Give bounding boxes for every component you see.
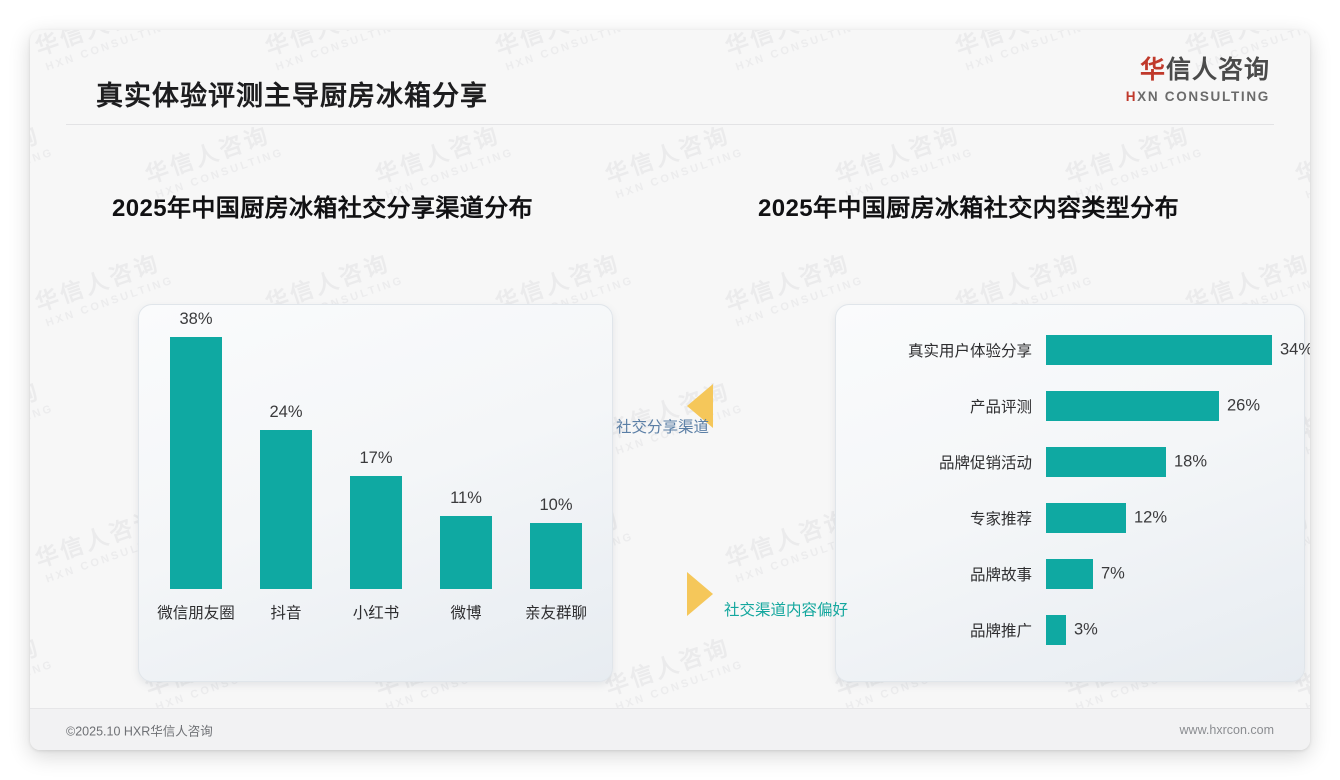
bar-category-label: 品牌故事 (836, 563, 1032, 585)
watermark-chinese: 华信人咨询 (600, 625, 741, 702)
bar-value-label: 7% (1101, 565, 1125, 584)
bar-rect[interactable] (260, 430, 312, 589)
slide-footer: ©2025.10 HXR华信人咨询 www.hxrcon.com (30, 708, 1310, 750)
bar-value-label: 10% (517, 496, 595, 515)
bar-value-label: 18% (1174, 453, 1207, 472)
watermark-tile: 华信人咨询HXN CONSULTING (30, 113, 55, 202)
bar-row: 专家推荐12% (836, 503, 1304, 533)
chart-title-right: 2025年中国厨房冰箱社交内容类型分布 (758, 188, 1179, 223)
bar-rect[interactable] (350, 476, 402, 589)
bar-value-label: 26% (1227, 397, 1260, 416)
watermark-english: HXN CONSULTING (1304, 146, 1310, 201)
watermark-english: HXN CONSULTING (1304, 402, 1310, 457)
chart-panel-right: 真实用户体验分享34%产品评测26%品牌促销活动18%专家推荐12%品牌故事7%… (835, 304, 1305, 682)
bar-category-label: 产品评测 (836, 395, 1032, 417)
watermark-english: HXN CONSULTING (1304, 658, 1310, 713)
bar-value-label: 24% (247, 403, 325, 422)
bar-rect[interactable] (1046, 335, 1272, 365)
bar-category-label: 专家推荐 (836, 507, 1032, 529)
bar-rect[interactable] (1046, 391, 1219, 421)
bar-value-label: 34% (1280, 341, 1310, 360)
watermark-english: HXN CONSULTING (614, 146, 745, 201)
logo-english-accent: H (1126, 89, 1137, 104)
footer-copyright: ©2025.10 HXR华信人咨询 (66, 720, 213, 739)
logo-english-rest: XN CONSULTING (1137, 89, 1270, 104)
bar-category-label: 品牌促销活动 (836, 451, 1032, 473)
bar-value-label: 3% (1074, 621, 1098, 640)
logo-chinese-accent: 华 (1140, 56, 1166, 84)
bar-category-label: 品牌推广 (836, 619, 1032, 641)
bar-value-label: 12% (1134, 509, 1167, 528)
bar-rect[interactable] (1046, 503, 1126, 533)
logo-english: HXN CONSULTING (1126, 90, 1270, 104)
bar-rect[interactable] (1046, 615, 1066, 645)
watermark-tile: 华信人咨询HXN CONSULTING (30, 369, 55, 458)
bar-rect[interactable] (1046, 447, 1166, 477)
annotation-content-preference: 社交渠道内容偏好 (724, 598, 848, 620)
chart-panel-left: 38%微信朋友圈24%抖音17%小红书11%微博10%亲友群聊 (138, 304, 613, 682)
watermark-english: HXN CONSULTING (30, 146, 55, 201)
watermark-tile: 华信人咨询HXN CONSULTING (600, 113, 745, 202)
slide-canvas: 华信人咨询HXN CONSULTING华信人咨询HXN CONSULTING华信… (30, 30, 1310, 750)
chart-title-left: 2025年中国厨房冰箱社交分享渠道分布 (112, 188, 533, 223)
bar-row: 真实用户体验分享34% (836, 335, 1304, 365)
slide-header: 真实体验评测主导厨房冰箱分享 华信人咨询 HXN CONSULTING (30, 30, 1310, 126)
bar-value-label: 17% (337, 449, 415, 468)
header-divider (66, 124, 1274, 125)
bar-rect[interactable] (530, 523, 582, 589)
logo-chinese-rest: 信人咨询 (1166, 56, 1270, 84)
watermark-tile: 华信人咨询HXN CONSULTING (600, 369, 745, 458)
bar-row: 产品评测26% (836, 391, 1304, 421)
vertical-bar-chart: 38%微信朋友圈24%抖音17%小红书11%微博10%亲友群聊 (139, 305, 612, 681)
bar-rect[interactable] (440, 516, 492, 589)
bar-category-label: 亲友群聊 (499, 601, 613, 623)
watermark-tile: 华信人咨询HXN CONSULTING (30, 625, 55, 714)
bar-group: 24%抖音 (247, 430, 325, 589)
page-title: 真实体验评测主导厨房冰箱分享 (96, 74, 488, 113)
bar-row: 品牌推广3% (836, 615, 1304, 645)
horizontal-bar-chart: 真实用户体验分享34%产品评测26%品牌促销活动18%专家推荐12%品牌故事7%… (836, 305, 1304, 681)
bar-category-label: 真实用户体验分享 (836, 339, 1032, 361)
bar-group: 17%小红书 (337, 476, 415, 589)
annotation-social-channel: 社交分享渠道 (616, 415, 709, 437)
watermark-tile: 华信人咨询HXN CONSULTING (600, 625, 745, 714)
footer-website: www.hxrcon.com (1180, 723, 1274, 737)
bar-group: 38%微信朋友圈 (157, 337, 235, 589)
brand-logo: 华信人咨询 HXN CONSULTING (1126, 58, 1270, 104)
bar-row: 品牌故事7% (836, 559, 1304, 589)
bar-group: 11%微博 (427, 516, 505, 589)
bar-value-label: 11% (427, 489, 505, 508)
bar-rect[interactable] (1046, 559, 1093, 589)
watermark-english: HXN CONSULTING (30, 402, 55, 457)
watermark-tile: 华信人咨询HXN CONSULTING (1290, 113, 1310, 202)
bar-value-label: 38% (157, 310, 235, 329)
watermark-chinese: 华信人咨询 (30, 369, 51, 446)
logo-chinese: 华信人咨询 (1126, 58, 1270, 83)
bar-group: 10%亲友群聊 (517, 523, 595, 589)
watermark-english: HXN CONSULTING (614, 658, 745, 713)
bar-row: 品牌促销活动18% (836, 447, 1304, 477)
bar-rect[interactable] (170, 337, 222, 589)
watermark-english: HXN CONSULTING (30, 658, 55, 713)
triangle-right-icon (687, 572, 713, 616)
watermark-chinese: 华信人咨询 (30, 625, 51, 702)
